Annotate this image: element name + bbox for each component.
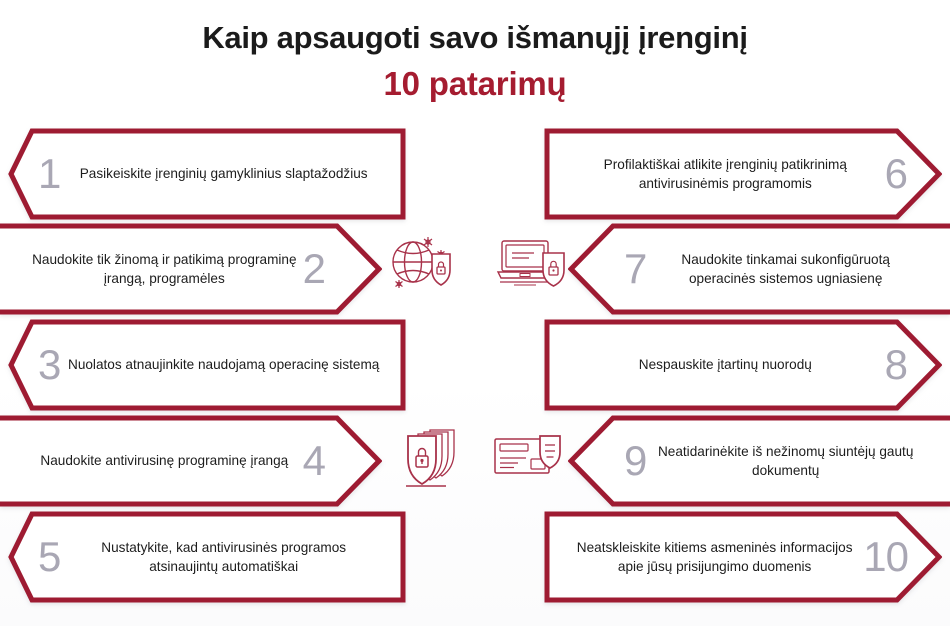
tip-row-7[interactable]: 7 Naudokite tinkamai sukonfigūruotą oper… bbox=[568, 223, 950, 315]
tip-content-6: Profilaktiškai atlikite įrenginių patikr… bbox=[544, 128, 942, 220]
tip-row-1[interactable]: 1 Pasikeiskite įrenginių gamyklinius sla… bbox=[8, 128, 406, 220]
header: Kaip apsaugoti savo išmanųjį įrenginį 10… bbox=[0, 0, 950, 124]
tip-content-8: Nespauskite įtartinų nuorodų 8 bbox=[544, 319, 942, 411]
tip-content-7: 7 Naudokite tinkamai sukonfigūruotą oper… bbox=[568, 223, 950, 315]
tip-row-8[interactable]: Nespauskite įtartinų nuorodų 8 bbox=[544, 319, 942, 411]
tip-row-3[interactable]: 3 Nuolatos atnaujinkite naudojamą operac… bbox=[8, 319, 406, 411]
tip-text-8: Nespauskite įtartinų nuorodų bbox=[566, 355, 885, 374]
tip-text-1: Pasikeiskite įrenginių gamyklinius slapt… bbox=[61, 164, 386, 183]
tip-row-10[interactable]: Neatskleiskite kitiems asmeninės informa… bbox=[544, 511, 942, 603]
document-shield-icon bbox=[492, 432, 562, 487]
page-title: Kaip apsaugoti savo išmanųjį įrenginį bbox=[0, 0, 950, 56]
tip-content-5: 5 Nustatykite, kad antivirusinės program… bbox=[8, 511, 406, 603]
tip-number-10: 10 bbox=[863, 536, 908, 578]
tip-row-6[interactable]: Profilaktiškai atlikite įrenginių patikr… bbox=[544, 128, 942, 220]
page-subtitle: 10 patarimų bbox=[0, 56, 950, 103]
tip-number-7: 7 bbox=[624, 248, 647, 290]
tips-container: 1 Pasikeiskite įrenginių gamyklinius sla… bbox=[0, 126, 950, 626]
tip-text-4: Naudokite antivirusinę programinę įrangą bbox=[26, 451, 303, 470]
tip-text-2: Naudokite tik žinomą ir patikimą program… bbox=[26, 250, 303, 289]
tip-text-7: Naudokite tinkamai sukonfigūruotą operac… bbox=[647, 250, 924, 289]
tip-number-1: 1 bbox=[38, 153, 61, 195]
infographic-root: Kaip apsaugoti savo išmanųjį įrenginį 10… bbox=[0, 0, 950, 626]
tip-number-6: 6 bbox=[885, 153, 908, 195]
tip-number-2: 2 bbox=[303, 248, 326, 290]
tip-content-9: 9 Neatidarinėkite iš nežinomų siuntėjų g… bbox=[568, 415, 950, 507]
tip-text-6: Profilaktiškai atlikite įrenginių patikr… bbox=[566, 155, 885, 194]
tip-text-3: Nuolatos atnaujinkite naudojamą operacin… bbox=[61, 355, 386, 374]
tip-content-4: Naudokite antivirusinę programinę įrangą… bbox=[0, 415, 382, 507]
shields-stack-lock-icon bbox=[400, 424, 464, 495]
tip-text-9: Neatidarinėkite iš nežinomų siuntėjų gau… bbox=[647, 442, 924, 481]
tip-content-1: 1 Pasikeiskite įrenginių gamyklinius sla… bbox=[8, 128, 406, 220]
laptop-shield-lock-icon bbox=[496, 236, 568, 295]
tip-number-5: 5 bbox=[38, 536, 61, 578]
tip-number-9: 9 bbox=[624, 440, 647, 482]
tip-content-10: Neatskleiskite kitiems asmeninės informa… bbox=[544, 511, 942, 603]
tip-content-2: Naudokite tik žinomą ir patikimą program… bbox=[0, 223, 382, 315]
tip-number-4: 4 bbox=[303, 440, 326, 482]
tip-text-10: Neatskleiskite kitiems asmeninės informa… bbox=[566, 538, 863, 577]
tip-text-5: Nustatykite, kad antivirusinės programos… bbox=[61, 538, 386, 577]
tip-row-2[interactable]: Naudokite tik žinomą ir patikimą program… bbox=[0, 223, 382, 315]
tip-number-3: 3 bbox=[38, 344, 61, 386]
tip-number-8: 8 bbox=[885, 344, 908, 386]
tip-row-9[interactable]: 9 Neatidarinėkite iš nežinomų siuntėjų g… bbox=[568, 415, 950, 507]
tip-row-5[interactable]: 5 Nustatykite, kad antivirusinės program… bbox=[8, 511, 406, 603]
globe-shield-lock-icon bbox=[386, 232, 454, 299]
tip-row-4[interactable]: Naudokite antivirusinę programinę įrangą… bbox=[0, 415, 382, 507]
tip-content-3: 3 Nuolatos atnaujinkite naudojamą operac… bbox=[8, 319, 406, 411]
